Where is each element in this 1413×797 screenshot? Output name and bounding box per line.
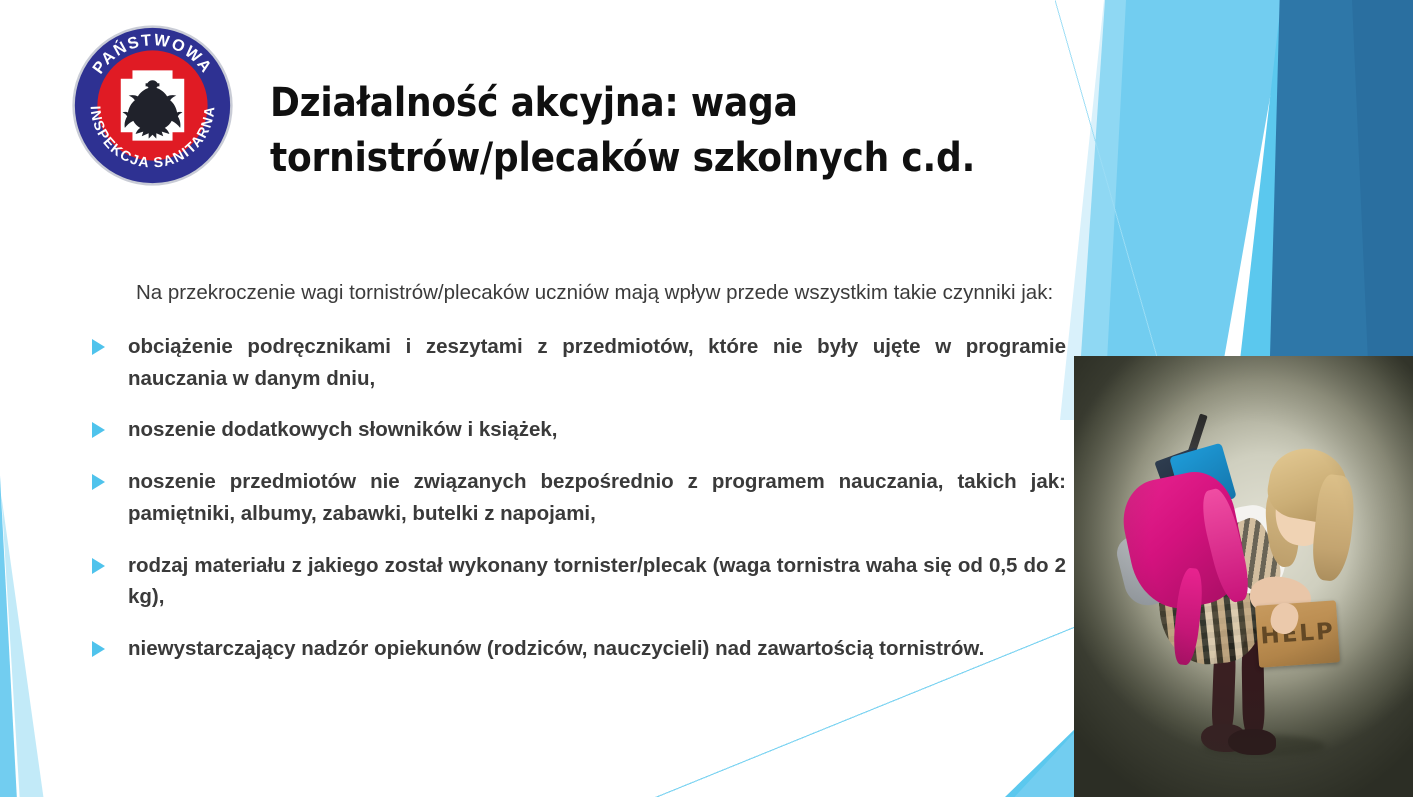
triangle-bullet-icon [92, 339, 105, 355]
slide: PAŃSTWOWA INSPEKCJA SANITARNA Działalnoś… [0, 0, 1413, 797]
triangle-bullet-icon [92, 558, 105, 574]
list-item-label: noszenie przedmiotów nie związanych bezp… [128, 470, 1066, 525]
list-item-label: noszenie dodatkowych słowników i książek… [128, 418, 557, 441]
factors-list: obciążenie podręcznikami i zeszytami z p… [88, 331, 1066, 665]
list-item: noszenie dodatkowych słowników i książek… [88, 414, 1066, 446]
sanitary-inspection-logo: PAŃSTWOWA INSPEKCJA SANITARNA [69, 22, 236, 189]
triangle-bullet-icon [92, 474, 105, 490]
content-body: Na przekroczenie wagi tornistrów/plecakó… [88, 256, 1066, 665]
left-wedge-highlight [0, 455, 70, 797]
list-item: noszenie przedmiotów nie związanych bezp… [88, 466, 1066, 530]
list-item-label: obciążenie podręcznikami i zeszytami z p… [128, 335, 1066, 390]
list-item: obciążenie podręcznikami i zeszytami z p… [88, 331, 1066, 395]
list-item-label: niewystarczający nadzór opiekunów (rodzi… [128, 637, 984, 660]
backpack-photo: HELP [1074, 356, 1413, 797]
left-wedge [0, 455, 60, 797]
list-item: rodzaj materiału z jakiego został wykona… [88, 550, 1066, 614]
list-item-label: rodzaj materiału z jakiego został wykona… [128, 554, 1066, 609]
triangle-bullet-icon [92, 422, 105, 438]
intro-paragraph: Na przekroczenie wagi tornistrów/plecakó… [88, 277, 1066, 309]
page-title: Działalność akcyjna: waga tornistrów/ple… [270, 76, 1070, 186]
triangle-bullet-icon [92, 641, 105, 657]
diagonal-band-light-cyan [1078, 0, 1228, 400]
list-item: niewystarczający nadzór opiekunów (rodzi… [88, 633, 1066, 665]
photo-vignette [1074, 356, 1413, 797]
